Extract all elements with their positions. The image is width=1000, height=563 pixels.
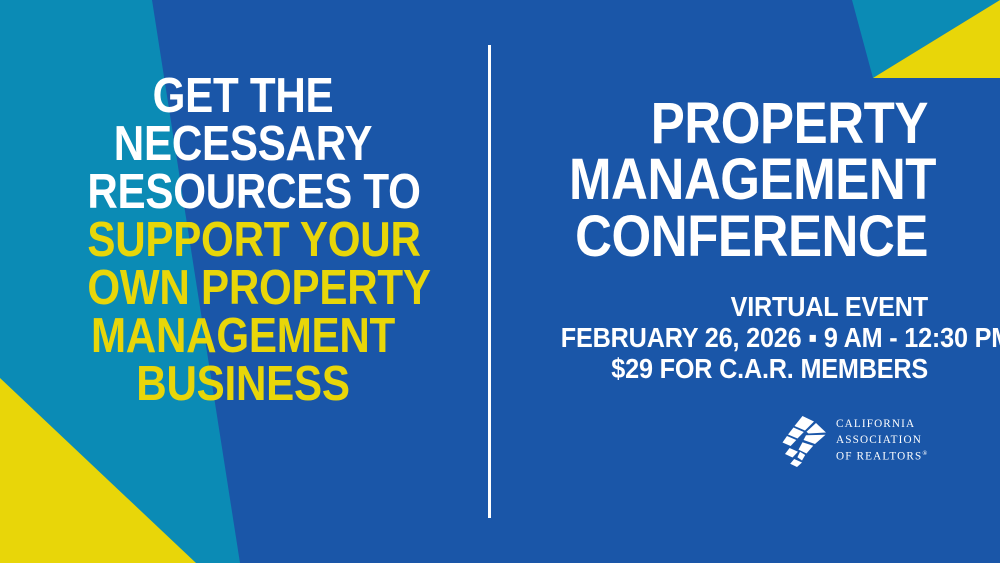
right-info-block: PROPERTY MANAGEMENT CONFERENCE VIRTUAL E… <box>520 96 928 385</box>
headline: GET THE NECESSARY RESOURCES TO SUPPORT Y… <box>87 72 398 408</box>
event-title: PROPERTY MANAGEMENT CONFERENCE <box>569 96 928 265</box>
headline-line-3: RESOURCES TO <box>87 168 398 216</box>
event-format: VIRTUAL EVENT <box>561 291 928 322</box>
headline-white-group: GET THE NECESSARY RESOURCES TO <box>87 72 398 216</box>
event-title-line-2: MANAGEMENT <box>569 152 928 208</box>
registered-trademark-icon: ® <box>922 450 927 457</box>
headline-line-2: NECESSARY <box>87 120 398 168</box>
headline-line-4: SUPPORT YOUR <box>87 216 398 264</box>
event-title-line-3: CONFERENCE <box>569 209 928 265</box>
logo-line-of-realtors-text: OF REALTORS <box>836 450 922 462</box>
logo-line-of-realtors: OF REALTORS® <box>836 449 927 466</box>
event-price: $29 FOR C.A.R. MEMBERS <box>561 353 928 384</box>
headline-line-6: MANAGEMENT <box>87 312 398 360</box>
logo-line-california: CALIFORNIA <box>836 417 927 433</box>
car-logo: CALIFORNIA ASSOCIATION OF REALTORS® <box>781 412 929 470</box>
event-title-line-1: PROPERTY <box>569 96 928 152</box>
headline-line-7: BUSINESS <box>87 360 398 408</box>
event-details: VIRTUAL EVENT FEBRUARY 26, 2026 ▪ 9 AM -… <box>561 291 928 385</box>
logo-line-association: ASSOCIATION <box>836 433 927 449</box>
event-date-time: FEBRUARY 26, 2026 ▪ 9 AM - 12:30 PM <box>561 322 928 353</box>
california-association-of-realtors-emblem-icon <box>781 415 827 467</box>
promotional-poster: GET THE NECESSARY RESOURCES TO SUPPORT Y… <box>0 0 1000 563</box>
car-logo-wordmark: CALIFORNIA ASSOCIATION OF REALTORS® <box>836 417 927 465</box>
headline-line-1: GET THE <box>87 72 398 120</box>
vertical-divider <box>488 45 491 518</box>
left-headline-block: GET THE NECESSARY RESOURCES TO SUPPORT Y… <box>62 72 424 408</box>
headline-line-5: OWN PROPERTY <box>87 264 398 312</box>
headline-yellow-group: SUPPORT YOUR OWN PROPERTY MANAGEMENT BUS… <box>87 216 398 408</box>
